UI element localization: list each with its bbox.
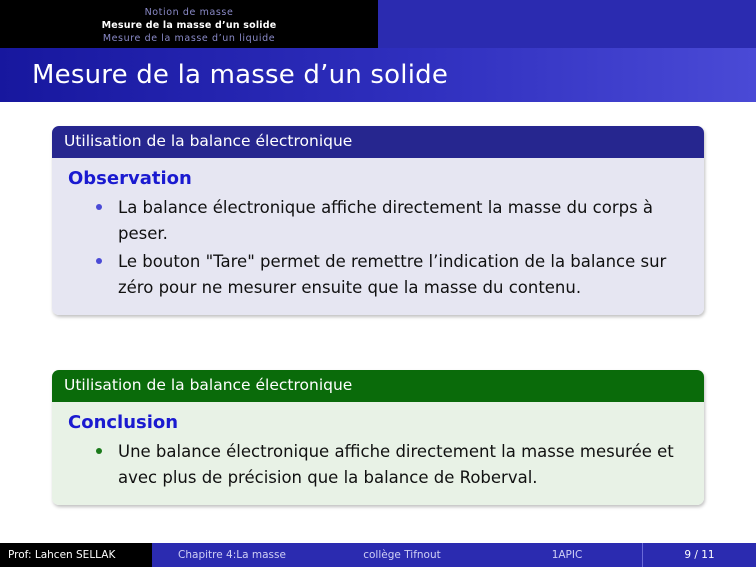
nav-item-mesure-masse-solide[interactable]: Mesure de la masse d’un solide <box>102 19 277 32</box>
observation-list: La balance électronique affiche directem… <box>66 195 690 301</box>
block-conclusion-header: Utilisation de la balance électronique <box>52 370 704 402</box>
list-item: Le bouton "Tare" permet de remettre l’in… <box>92 249 690 301</box>
footer-school: collège Tifnout <box>312 543 492 567</box>
observation-subtitle: Observation <box>68 168 690 189</box>
footer-chapter: Chapitre 4:La masse <box>152 543 312 567</box>
block-observation-body: Observation La balance électronique affi… <box>52 158 704 315</box>
page-title: Mesure de la masse d’un solide <box>0 60 448 90</box>
conclusion-list: Une balance électronique affiche directe… <box>66 439 690 491</box>
nav-item-mesure-masse-liquide[interactable]: Mesure de la masse d’un liquide <box>103 32 275 45</box>
block-observation: Utilisation de la balance électronique O… <box>52 126 704 315</box>
bullet-icon <box>96 448 102 454</box>
slide-content: Utilisation de la balance électronique O… <box>0 102 756 543</box>
block-observation-header: Utilisation de la balance électronique <box>52 126 704 158</box>
list-item: La balance électronique affiche directem… <box>92 195 690 247</box>
footer-level: 1APIC <box>492 543 642 567</box>
nav-item-notion-de-masse[interactable]: Notion de masse <box>145 6 234 19</box>
bullet-icon <box>96 258 102 264</box>
block-conclusion: Utilisation de la balance électronique C… <box>52 370 704 505</box>
footer-author: Prof: Lahcen SELLAK <box>0 543 152 567</box>
bullet-icon <box>96 204 102 210</box>
list-item-text: Le bouton "Tare" permet de remettre l’in… <box>118 252 666 297</box>
list-item-text: La balance électronique affiche directem… <box>118 198 653 243</box>
slide-title-band: Mesure de la masse d’un solide <box>0 48 756 102</box>
list-item: Une balance électronique affiche directe… <box>92 439 690 491</box>
header-bar: Notion de masse Mesure de la masse d’un … <box>0 0 756 48</box>
header-filler <box>378 0 756 48</box>
footer-page-number: 9 / 11 <box>642 543 756 567</box>
list-item-text: Une balance électronique affiche directe… <box>118 442 674 487</box>
block-conclusion-body: Conclusion Une balance électronique affi… <box>52 402 704 505</box>
conclusion-subtitle: Conclusion <box>68 412 690 433</box>
footer-bar: Prof: Lahcen SELLAK Chapitre 4:La masse … <box>0 543 756 567</box>
header-nav: Notion de masse Mesure de la masse d’un … <box>0 0 378 48</box>
